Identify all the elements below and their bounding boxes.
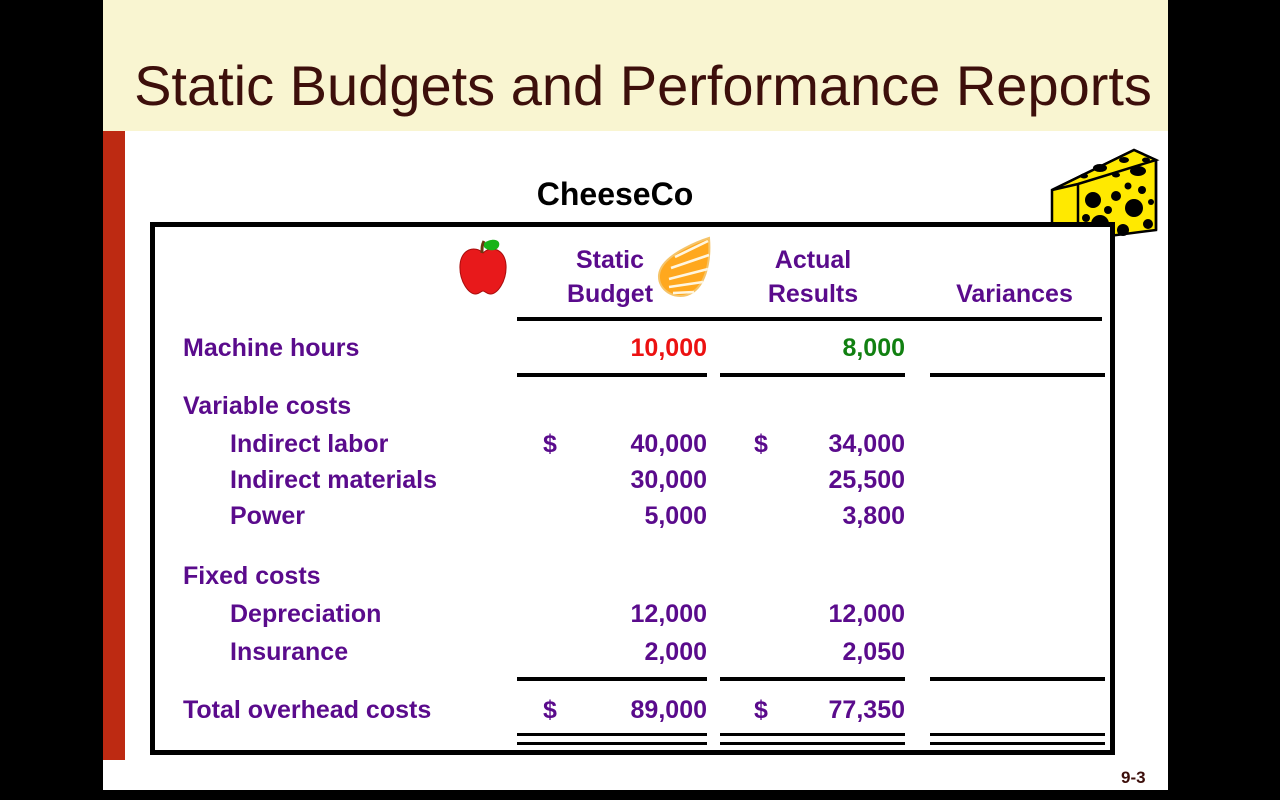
column-header-variances: Variances	[917, 277, 1112, 311]
amount: 89,000	[631, 695, 707, 725]
currency-symbol: $	[720, 695, 768, 725]
row-value-machine-hours-budget: 10,000	[517, 333, 707, 363]
page-number: 9-3	[1121, 768, 1146, 788]
row-label-indirect-materials: Indirect materials	[183, 465, 560, 495]
total-double-underline-budget	[517, 733, 707, 745]
row-value-power-budget: 5,000	[517, 501, 707, 531]
accent-bar	[103, 131, 125, 760]
currency-symbol: $	[720, 429, 768, 459]
row-value-indirect-labor-budget: $ 40,000	[517, 429, 707, 459]
total-double-underline-variance	[930, 733, 1105, 745]
total-double-underline-actual	[720, 733, 905, 745]
column-header-static-budget-line2: Budget	[510, 277, 710, 311]
row-label-machine-hours: Machine hours	[183, 333, 513, 363]
row-label-power: Power	[183, 501, 560, 531]
subtotal-underline-budget	[517, 677, 707, 681]
row-label-insurance: Insurance	[183, 637, 560, 667]
row-value-indirect-labor-actual: $ 34,000	[720, 429, 905, 459]
amount: 34,000	[829, 429, 905, 459]
row-value-indirect-materials-budget: 30,000	[517, 465, 707, 495]
apple-icon	[453, 237, 513, 299]
column-header-actual-results-line2: Results	[713, 277, 913, 311]
row-value-insurance-budget: 2,000	[517, 637, 707, 667]
amount: 40,000	[631, 429, 707, 459]
currency-symbol: $	[517, 429, 557, 459]
subtotal-underline-actual	[720, 677, 905, 681]
row-label-variable-costs: Variable costs	[183, 391, 513, 421]
row-label-total-overhead-costs: Total overhead costs	[183, 695, 513, 725]
title-band: Static Budgets and Performance Reports	[103, 0, 1168, 131]
machine-hours-underline-actual	[720, 373, 905, 377]
column-header-variances-line2: Variances	[917, 277, 1112, 311]
row-value-power-actual: 3,800	[720, 501, 905, 531]
column-header-actual-results-line1: Actual	[713, 243, 913, 277]
company-name: CheeseCo	[150, 176, 1080, 213]
row-label-fixed-costs: Fixed costs	[183, 561, 513, 591]
row-label-indirect-labor: Indirect labor	[183, 429, 560, 459]
row-value-total-overhead-costs-budget: $ 89,000	[517, 695, 707, 725]
row-value-machine-hours-actual: 8,000	[720, 333, 905, 363]
amount: 77,350	[829, 695, 905, 725]
subtotal-underline-variance	[930, 677, 1105, 681]
performance-report-table: Static Budget Actual Results Variances M…	[150, 222, 1115, 755]
column-header-static-budget-line1: Static	[510, 243, 710, 277]
row-value-total-overhead-costs-actual: $ 77,350	[720, 695, 905, 725]
header-underline	[517, 317, 1102, 321]
column-header-actual-results: Actual Results	[713, 243, 913, 311]
page-title: Static Budgets and Performance Reports	[123, 56, 1163, 116]
machine-hours-underline-variance	[930, 373, 1105, 377]
slide-root: Static Budgets and Performance Reports	[0, 0, 1280, 800]
row-value-indirect-materials-actual: 25,500	[720, 465, 905, 495]
machine-hours-underline-budget	[517, 373, 707, 377]
row-value-depreciation-budget: 12,000	[517, 599, 707, 629]
row-value-insurance-actual: 2,050	[720, 637, 905, 667]
slide-canvas: Static Budgets and Performance Reports	[103, 0, 1168, 790]
row-label-depreciation: Depreciation	[183, 599, 560, 629]
column-header-static-budget: Static Budget	[510, 243, 710, 311]
currency-symbol: $	[517, 695, 557, 725]
row-value-depreciation-actual: 12,000	[720, 599, 905, 629]
